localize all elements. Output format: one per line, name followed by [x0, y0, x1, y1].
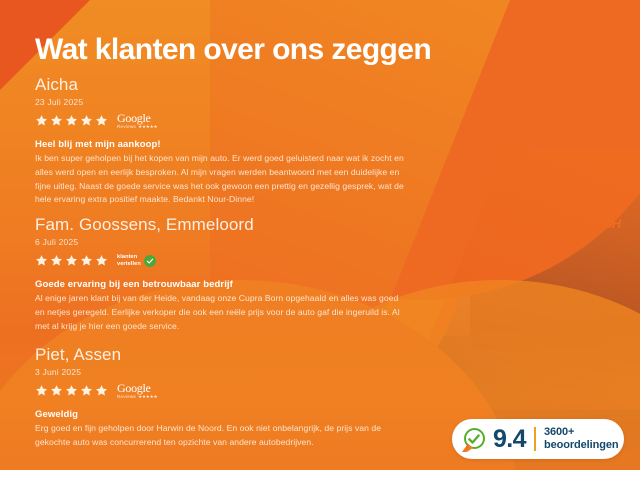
star-icon: [35, 384, 48, 397]
review-body: Erg goed en fijn geholpen door Harwin de…: [35, 422, 410, 450]
review-date: 3 Juni 2025: [35, 367, 410, 377]
star-rating: [35, 114, 108, 127]
klantenvertellen-badge: klanten vertellen: [117, 254, 156, 267]
star-icon: [80, 254, 93, 267]
verified-check-icon: [463, 428, 485, 450]
mini-star-rating: ★★★★★: [138, 125, 157, 130]
reviewer-name: Piet, Assen: [35, 346, 410, 365]
rating-score: 9.4: [493, 427, 526, 452]
page-title: Wat klanten over ons zeggen: [35, 33, 431, 67]
rating-count-label: beoordelingen: [544, 439, 618, 451]
review-title: Heel blij met mijn aankoop!: [35, 139, 410, 150]
google-reviews-badge: Google Reviews ★★★★★: [117, 112, 157, 130]
review-meta: klanten vertellen: [35, 252, 410, 270]
review-title: Geweldig: [35, 409, 410, 420]
review-item: Fam. Goossens, Emmeloord 6 Juli 2025 kla…: [35, 216, 410, 333]
google-reviews-subtext: Reviews ★★★★★: [117, 395, 157, 400]
review-item: Piet, Assen 3 Juni 2025 Google Reviews ★…: [35, 346, 410, 450]
reviewer-name: Fam. Goossens, Emmeloord: [35, 216, 410, 235]
star-icon: [95, 114, 108, 127]
mini-star-rating: ★★★★★: [138, 395, 157, 400]
google-logo-text: Google: [117, 112, 157, 124]
star-icon: [95, 384, 108, 397]
review-body: Ik ben super geholpen bij het kopen van …: [35, 152, 410, 208]
rating-count: 3600+: [544, 426, 574, 438]
overall-rating-badge: 9.4 3600+ beoordelingen: [452, 419, 624, 459]
review-item: Aicha 23 Juli 2025 Google Reviews ★★★★★: [35, 76, 410, 207]
star-icon: [65, 114, 78, 127]
star-rating: [35, 384, 108, 397]
star-icon: [95, 254, 108, 267]
reviewer-name: Aicha: [35, 76, 410, 95]
star-icon: [65, 254, 78, 267]
klantenvertellen-line1: klanten: [117, 254, 137, 260]
review-title: Goede ervaring bij een betrouwbaar bedri…: [35, 279, 410, 290]
google-reviews-badge: Google Reviews ★★★★★: [117, 382, 157, 400]
star-icon: [50, 114, 63, 127]
google-reviews-label: Reviews: [117, 125, 136, 130]
testimonial-poster: VDH Wat klanten over ons zeggen Aicha 23…: [0, 0, 640, 480]
star-icon: [35, 114, 48, 127]
content-layer: Wat klanten over ons zeggen Aicha 23 Jul…: [0, 0, 640, 480]
star-icon: [65, 384, 78, 397]
review-meta: Google Reviews ★★★★★: [35, 382, 410, 400]
rating-count-text: 3600+ beoordelingen: [544, 426, 618, 453]
google-logo-text: Google: [117, 382, 157, 394]
star-icon: [80, 114, 93, 127]
check-circle-icon: [144, 255, 156, 267]
klantenvertellen-label: klanten vertellen: [117, 254, 141, 267]
klantenvertellen-line2: vertellen: [117, 261, 141, 267]
review-meta: Google Reviews ★★★★★: [35, 112, 410, 130]
star-rating: [35, 254, 108, 267]
review-body: Al enige jaren klant bij van der Heide, …: [35, 292, 410, 334]
google-reviews-subtext: Reviews ★★★★★: [117, 125, 157, 130]
star-icon: [35, 254, 48, 267]
star-icon: [80, 384, 93, 397]
review-date: 23 Juli 2025: [35, 97, 410, 107]
review-date: 6 Juli 2025: [35, 237, 410, 247]
star-icon: [50, 254, 63, 267]
google-reviews-label: Reviews: [117, 395, 136, 400]
rating-divider: [534, 427, 536, 451]
star-icon: [50, 384, 63, 397]
